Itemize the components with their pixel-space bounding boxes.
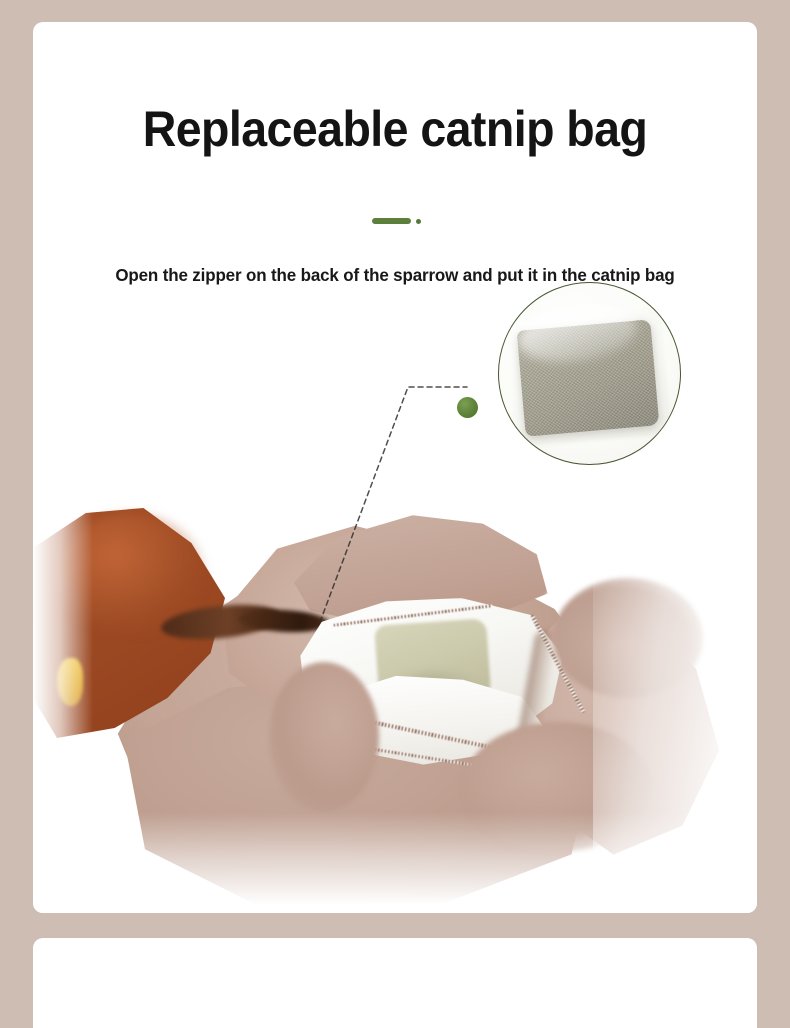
infographic-page: Replaceable catnip bag Open the zipper o… — [0, 0, 790, 1004]
callout-marker-dot — [457, 397, 478, 418]
next-content-card — [33, 938, 757, 1028]
photo-fade-left — [33, 492, 93, 913]
main-content-card: Replaceable catnip bag Open the zipper o… — [33, 22, 757, 913]
callout-circle — [498, 282, 681, 465]
divider-bar — [372, 218, 411, 224]
photo-fade-bottom — [33, 812, 757, 913]
page-subtitle: Open the zipper on the back of the sparr… — [44, 265, 746, 286]
fur-tuft-left — [269, 662, 379, 812]
title-divider — [33, 215, 757, 227]
divider-dot — [416, 219, 421, 224]
page-title: Replaceable catnip bag — [58, 104, 731, 154]
